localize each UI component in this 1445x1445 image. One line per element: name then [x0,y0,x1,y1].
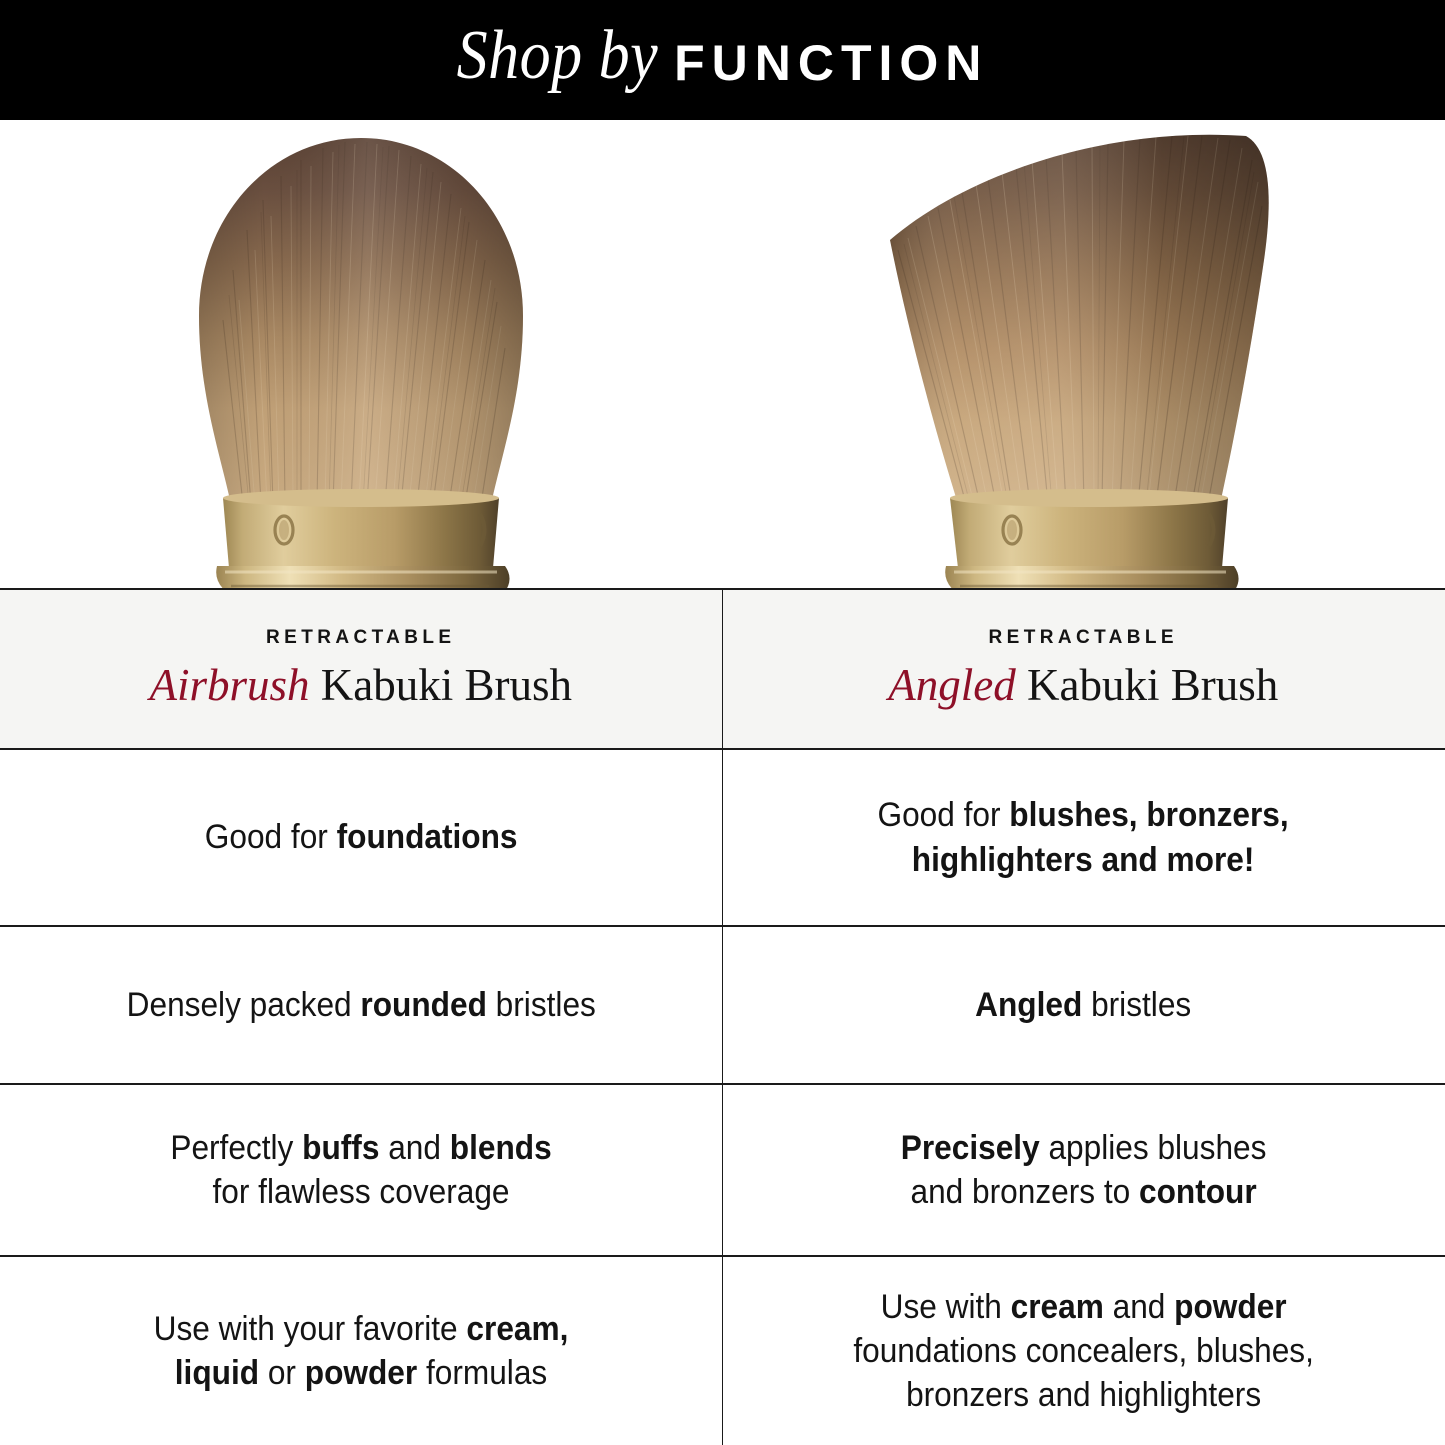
table-row: Perfectly buffs and blendsfor flawless c… [0,1085,1445,1257]
feature-cell-right: Use with cream and powderfoundations con… [722,1257,1445,1445]
gold-ferrule [216,489,509,588]
product-name-rest: Kabuki Brush [310,660,573,710]
table-row: Good for foundations Good for blushes, b… [0,750,1445,927]
feature-text: Use with your favorite cream,liquid or p… [153,1307,568,1395]
feature-text: Precisely applies blushesand bronzers to… [900,1126,1266,1214]
product-name-accent: Angled [888,660,1015,710]
infographic-page: Shop by FUNCTION [0,0,1445,1445]
product-name-accent: Airbrush [149,660,309,710]
page-title: Shop by FUNCTION [457,25,989,96]
feature-text: Use with cream and powderfoundations con… [853,1285,1314,1418]
feature-text: Densely packed rounded bristles [126,983,595,1027]
feature-text: Good for blushes, bronzers,highlighters … [878,793,1289,881]
page-title-emphasis: FUNCTION [674,34,988,92]
feature-text: Perfectly buffs and blendsfor flawless c… [170,1126,551,1214]
feature-cell-right: Good for blushes, bronzers,highlighters … [722,750,1445,925]
page-title-script: Shop by [457,16,675,96]
rounded-kabuki-brush-image [151,120,571,588]
product-name: Angled Kabuki Brush [888,661,1278,711]
feature-cell-left: Perfectly buffs and blendsfor flawless c… [0,1085,723,1255]
feature-text: Good for foundations [204,815,517,859]
product-image-row [0,120,1445,588]
feature-text: Angled bristles [975,983,1191,1027]
comparison-table: RETRACTABLE Airbrush Kabuki Brush RETRAC… [0,588,1445,1445]
table-row: Use with your favorite cream,liquid or p… [0,1257,1445,1445]
product-image-cell-angled [723,120,1445,588]
product-eyebrow: RETRACTABLE [989,627,1178,649]
bristle-head [199,138,523,504]
table-row: Densely packed rounded bristles Angled b… [0,927,1445,1085]
bristle-head [890,135,1269,504]
product-title-cell-angled: RETRACTABLE Angled Kabuki Brush [722,590,1445,748]
table-row-product-titles: RETRACTABLE Airbrush Kabuki Brush RETRAC… [0,590,1445,750]
product-image-cell-airbrush [0,120,723,588]
feature-cell-left: Good for foundations [0,750,723,925]
feature-cell-right: Precisely applies blushesand bronzers to… [722,1085,1445,1255]
feature-cell-left: Use with your favorite cream,liquid or p… [0,1257,723,1445]
feature-cell-left: Densely packed rounded bristles [0,927,723,1083]
product-name-rest: Kabuki Brush [1016,660,1279,710]
header-banner: Shop by FUNCTION [0,0,1445,120]
product-eyebrow: RETRACTABLE [266,627,455,649]
product-name: Airbrush Kabuki Brush [149,661,572,711]
angled-kabuki-brush-image [854,120,1314,588]
product-title-cell-airbrush: RETRACTABLE Airbrush Kabuki Brush [0,590,723,748]
gold-ferrule [945,489,1238,588]
feature-cell-right: Angled bristles [722,927,1445,1083]
